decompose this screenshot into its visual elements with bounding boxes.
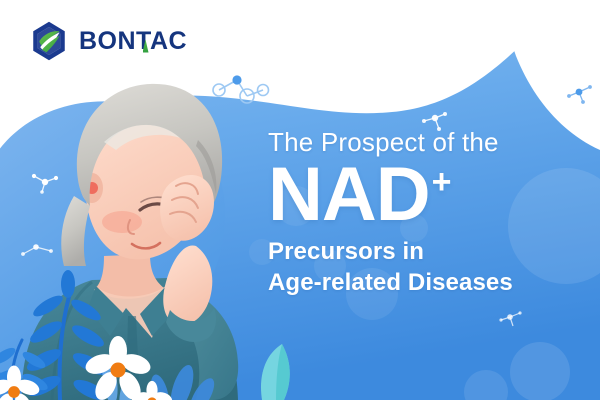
headline-block: The Prospect of the NAD + Precursors in … [268, 128, 513, 299]
headline-title: NAD [268, 159, 430, 232]
headline-superscript: + [432, 165, 452, 199]
woman-head [61, 84, 222, 266]
sparkle-molecule-icon [497, 308, 525, 330]
sparkle-molecule-icon [28, 168, 62, 194]
headline-line-3: Precursors in [268, 236, 513, 268]
molecule-node-bond-icon [565, 82, 595, 106]
elderly-woman-illustration [0, 70, 260, 400]
sparkle-molecule-icon [18, 238, 58, 262]
hair-side [61, 196, 90, 266]
cheek-blush [102, 211, 142, 233]
bontac-hexagon-leaf-logo [28, 20, 70, 62]
headline-line-4: Age-related Diseases [268, 267, 513, 299]
brand-wordmark: BONTAC [79, 29, 187, 54]
promo-banner: BONTAC [0, 0, 600, 400]
brand-logo[interactable]: BONTAC [28, 20, 187, 62]
molecule-node-bond-icon [205, 68, 273, 112]
headline-title-row: NAD + [268, 159, 513, 232]
bubble-icon [510, 342, 570, 400]
